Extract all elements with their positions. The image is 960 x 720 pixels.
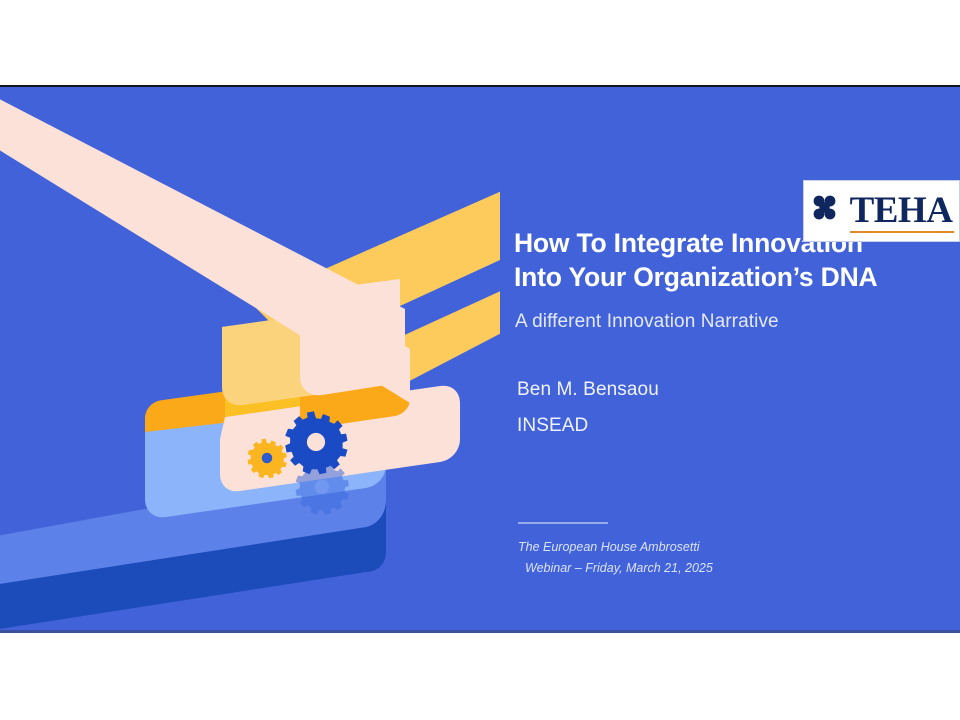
slide-subtitle: A different Innovation Narrative: [515, 311, 779, 333]
title-line-2: Into Your Organization’s DNA: [514, 261, 934, 295]
ribbon-gear-artwork: [0, 87, 500, 632]
author-affiliation: INSEAD: [517, 415, 588, 437]
event-footer: The European House Ambrosetti Webinar – …: [518, 537, 713, 578]
teha-clover-mark-icon: [811, 193, 845, 228]
teha-logo: TEHA: [803, 180, 960, 242]
slide-page: How To Integrate Innovation Into Your Or…: [0, 0, 960, 720]
teha-wordmark: TEHA: [850, 192, 953, 229]
footer-organization: The European House Ambrosetti: [518, 540, 700, 554]
presentation-slide: How To Integrate Innovation Into Your Or…: [0, 85, 960, 632]
slide-bottom-edge: [0, 630, 960, 633]
footer-event-date: Webinar – Friday, March 21, 2025: [518, 558, 713, 579]
footer-divider: [518, 522, 608, 524]
author-name: Ben M. Bensaou: [517, 379, 659, 401]
